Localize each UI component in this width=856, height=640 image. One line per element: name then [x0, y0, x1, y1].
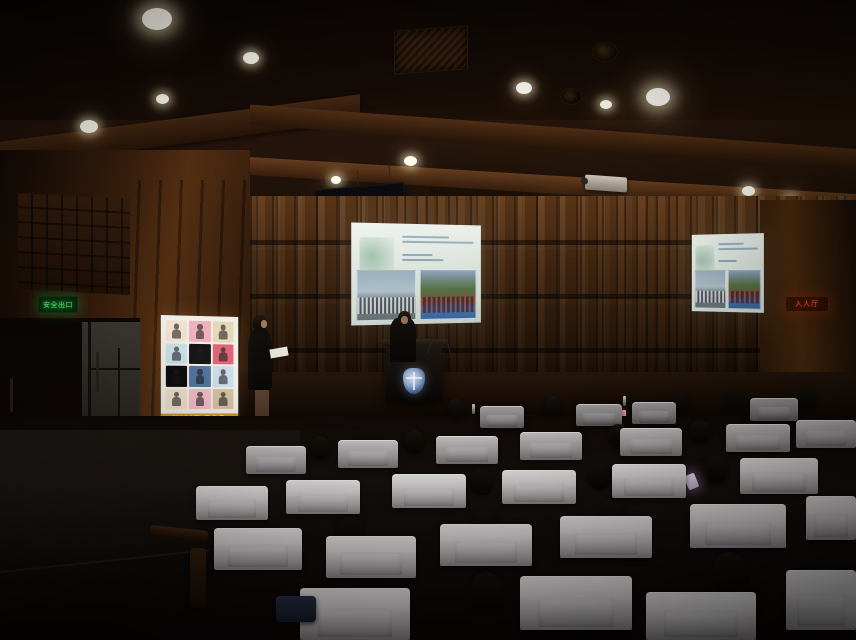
audience-seat[interactable] — [480, 406, 524, 428]
audience-seat[interactable] — [750, 398, 798, 421]
ceiling-light — [331, 176, 341, 184]
ceiling-light — [156, 94, 169, 104]
audience-seat[interactable] — [632, 402, 676, 424]
ceiling-light — [516, 82, 532, 94]
audience-seat[interactable] — [690, 504, 786, 548]
audience-seat[interactable] — [796, 420, 856, 448]
audience-head — [310, 436, 330, 459]
audience-head — [588, 462, 611, 489]
left-wall-panel-grid — [18, 193, 130, 295]
school-crest-icon — [403, 368, 425, 394]
audience-seat[interactable] — [338, 440, 398, 468]
audience-seat[interactable] — [214, 528, 302, 570]
ceiling-light — [646, 88, 670, 106]
audience-seat[interactable] — [196, 486, 268, 520]
ceiling-light — [742, 186, 755, 196]
emergency-exit-label: 安全出口 — [43, 300, 73, 310]
ceiling-light — [600, 100, 612, 109]
audience-head — [704, 456, 728, 484]
audience-head — [726, 390, 743, 410]
ceiling-speaker-icon — [560, 88, 582, 105]
audience-seat[interactable] — [520, 576, 632, 630]
banner-tile — [213, 389, 234, 409]
hvac-vent-icon — [394, 25, 468, 74]
audience-seat[interactable] — [392, 474, 466, 508]
audience-seat[interactable] — [806, 496, 856, 540]
audience-head — [712, 552, 746, 592]
secondary-projection-screen — [692, 233, 764, 313]
audience-seat[interactable] — [502, 470, 576, 504]
backpack — [276, 596, 316, 622]
banner-tile — [189, 321, 210, 342]
audience-seat[interactable] — [726, 424, 790, 452]
staff-body — [248, 328, 272, 390]
audience-head — [545, 396, 561, 415]
banner-tile — [213, 344, 234, 365]
audience-seat[interactable] — [560, 516, 652, 558]
presenter-face — [401, 316, 408, 324]
entrance-sign: 入人厅 — [786, 297, 828, 311]
main-projection-screen — [351, 222, 481, 325]
entrance-label: 入人厅 — [795, 299, 819, 309]
water-bottle — [623, 396, 626, 406]
audience-seat[interactable] — [646, 592, 756, 640]
auditorium-photo: 安全出口 入人厅 — [0, 0, 856, 640]
audience-seat[interactable] — [246, 446, 306, 474]
ceiling-speaker-icon — [592, 42, 618, 62]
banner-tile — [189, 388, 210, 409]
banner-tile — [189, 343, 210, 364]
audience-seat[interactable] — [286, 480, 360, 514]
audience-seat[interactable] — [786, 570, 856, 630]
audience-seat[interactable] — [436, 436, 498, 464]
audience-head — [470, 468, 493, 495]
screen-glare — [351, 222, 481, 325]
audience-head — [448, 398, 465, 418]
audience-head — [470, 572, 504, 612]
audience-head — [690, 420, 710, 443]
banner-tile — [166, 388, 187, 409]
banner-tile — [166, 343, 187, 364]
audience-seat[interactable] — [620, 428, 682, 456]
seat-row-end-post — [190, 548, 206, 608]
ceiling-light — [404, 156, 417, 166]
banner-avatar-grid — [166, 320, 234, 409]
staff-face — [261, 320, 267, 328]
water-bottle — [472, 404, 475, 414]
audience-seat[interactable] — [326, 536, 416, 578]
ceiling-light — [243, 52, 259, 64]
audience-seat[interactable] — [520, 432, 582, 460]
audience-seat[interactable] — [612, 464, 686, 498]
emergency-exit-sign: 安全出口 — [38, 296, 78, 313]
banner-tile — [213, 366, 234, 387]
audience-seat[interactable] — [440, 524, 532, 566]
audience-head — [404, 430, 424, 453]
door-handle[interactable] — [96, 352, 99, 392]
projector-lens-icon — [581, 177, 588, 184]
banner-tile — [166, 366, 187, 387]
ceiling-light — [80, 120, 98, 133]
banner-tile — [189, 366, 210, 387]
ceiling-light — [142, 8, 172, 30]
audience-seat[interactable] — [300, 588, 410, 640]
screen-glare — [692, 233, 764, 313]
audience-head — [800, 388, 817, 408]
banner-tile — [166, 320, 187, 341]
audience-seat[interactable] — [740, 458, 818, 494]
ceiling-projector — [585, 175, 627, 193]
banner-tile — [213, 321, 234, 342]
door-handle[interactable] — [10, 378, 13, 412]
audience-seat[interactable] — [576, 404, 622, 426]
